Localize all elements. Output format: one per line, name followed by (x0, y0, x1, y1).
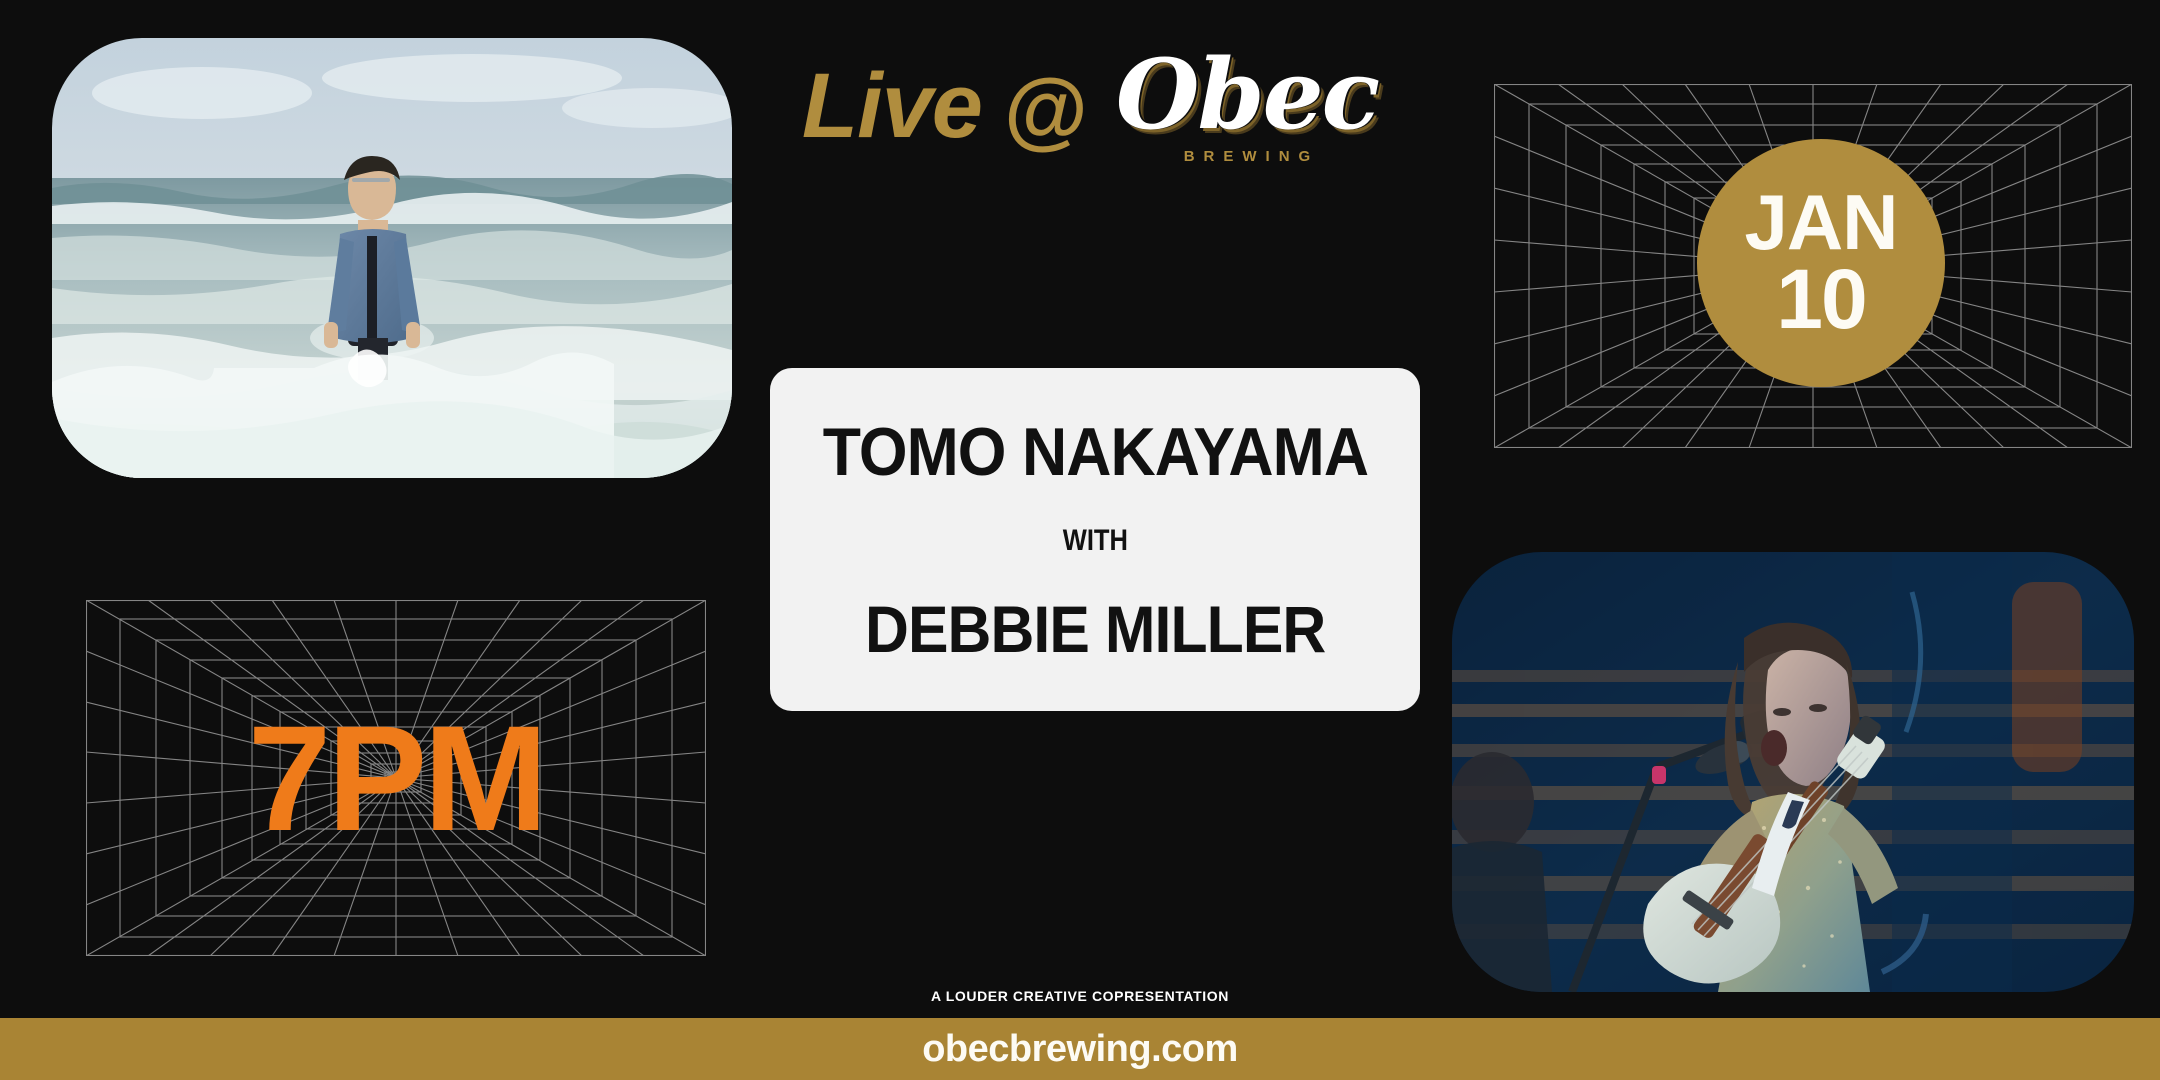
footer-bar: obecbrewing.com (0, 1018, 2160, 1080)
date-month: JAN (1744, 187, 1897, 259)
date-day: 10 (1776, 261, 1865, 338)
brand-subtitle: BREWING (1175, 148, 1320, 165)
obec-brewing-logo: Obec BREWING (1116, 51, 1378, 164)
headliner-photo (52, 38, 732, 478)
support-act-photo (1452, 552, 2134, 992)
headliner-name: TOMO NAKAYAMA (822, 418, 1367, 486)
event-poster: Live @ Obec BREWING (0, 0, 2160, 1080)
perspective-grid-time (86, 600, 706, 956)
website-url[interactable]: obecbrewing.com (922, 1028, 1238, 1071)
live-label: Live (802, 60, 982, 152)
poster-header: Live @ Obec BREWING (760, 36, 1420, 176)
date-badge: JAN 10 (1697, 139, 1945, 387)
at-symbol: @ (1004, 67, 1088, 153)
credit-line: A LOUDER CREATIVE COPRESENTATION (0, 988, 2160, 1004)
with-label: WITH (1062, 526, 1127, 556)
brand-wordmark: Obec (1116, 51, 1378, 139)
time-grid-tunnel (86, 600, 706, 956)
stage-photo-illustration (1452, 552, 2134, 992)
ocean-photo-illustration (52, 38, 732, 478)
support-act-name: DEBBIE MILLER (865, 596, 1325, 662)
lineup-card: TOMO NAKAYAMA WITH DEBBIE MILLER (770, 368, 1420, 711)
